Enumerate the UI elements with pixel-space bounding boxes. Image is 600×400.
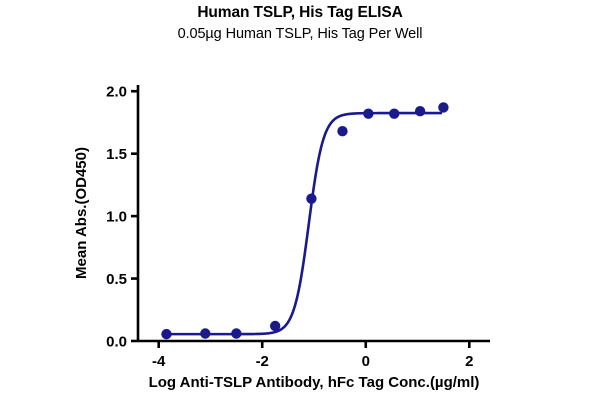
x-tick-label: 0 bbox=[362, 353, 370, 370]
y-axis-title: Mean Abs.(OD450) bbox=[73, 147, 90, 279]
data-point bbox=[270, 321, 280, 331]
y-tick-label: 2.0 bbox=[106, 84, 127, 101]
x-tick-labels: -4-202 bbox=[152, 353, 473, 370]
data-point bbox=[337, 126, 347, 136]
data-point bbox=[363, 109, 373, 119]
x-tick-label: -4 bbox=[152, 353, 166, 370]
data-point bbox=[415, 106, 425, 116]
elisa-chart-figure: Human TSLP, His Tag ELISA 0.05µg Human T… bbox=[0, 0, 600, 400]
y-tick-label: 1.0 bbox=[106, 209, 127, 226]
x-axis: -4-202 Log Anti-TSLP Antibody, hFc Tag C… bbox=[138, 341, 490, 391]
x-tick-label: -2 bbox=[256, 353, 269, 370]
data-point bbox=[161, 329, 171, 339]
y-tick-label: 1.5 bbox=[106, 146, 127, 163]
y-tick-labels: 0.00.51.01.52.0 bbox=[106, 84, 127, 351]
sigmoid-fit-curve bbox=[164, 113, 441, 334]
y-tick-label: 0.5 bbox=[106, 271, 127, 288]
data-point bbox=[438, 102, 448, 112]
y-axis: 0.00.51.01.52.0 Mean Abs.(OD450) bbox=[73, 84, 138, 351]
data-point bbox=[306, 193, 316, 203]
y-tick-label: 0.0 bbox=[106, 334, 127, 351]
data-point bbox=[231, 328, 241, 338]
x-tick-label: 2 bbox=[465, 353, 473, 370]
data-point bbox=[200, 328, 210, 338]
data-point bbox=[389, 109, 399, 119]
x-axis-title: Log Anti-TSLP Antibody, hFc Tag Conc.(µg… bbox=[149, 374, 480, 391]
data-point-markers bbox=[161, 102, 448, 339]
plot-area: 0.00.51.01.52.0 Mean Abs.(OD450) -4-202 … bbox=[0, 0, 600, 400]
